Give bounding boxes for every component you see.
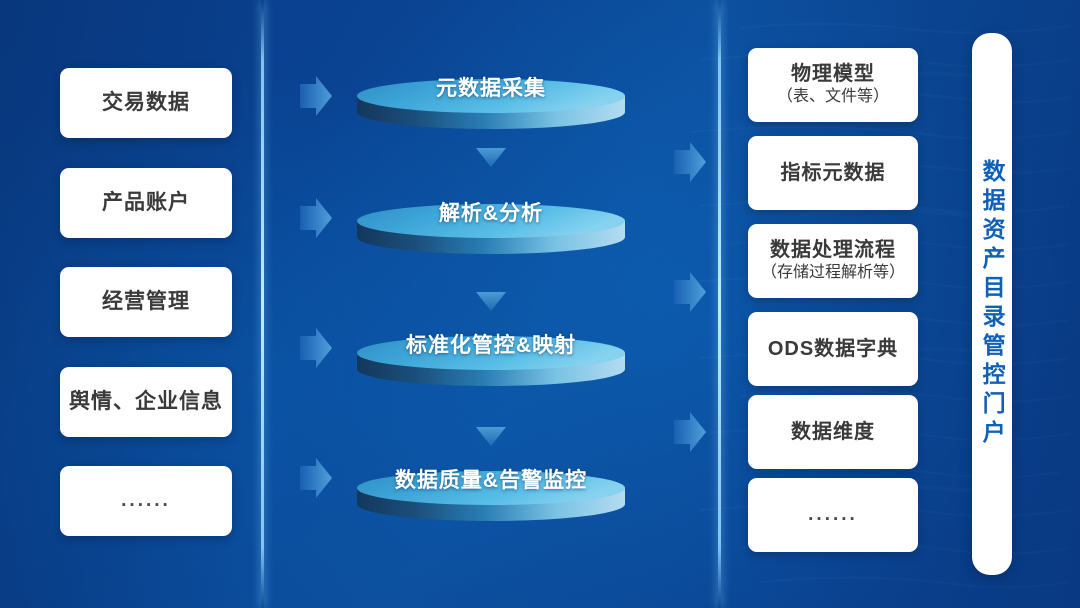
output-card-2[interactable]: 指标元数据	[748, 136, 918, 210]
output-card-title: 指标元数据	[781, 161, 886, 186]
arrow-down-icon	[476, 148, 506, 168]
arrow-right-icon	[298, 74, 334, 118]
output-card-3[interactable]: 数据处理流程 （存储过程解析等）	[748, 224, 918, 298]
output-card-title: ......	[808, 504, 858, 526]
arrow-right-icon	[298, 196, 334, 240]
output-card-title: ODS数据字典	[768, 337, 898, 362]
output-card-title: 物理模型	[791, 62, 875, 87]
arrow-right-icon	[672, 410, 708, 454]
output-card-subtitle: （表、文件等）	[777, 87, 889, 108]
pipeline-stage-2[interactable]: 解析&分析	[356, 203, 626, 265]
source-card-2[interactable]: 产品账户	[60, 168, 232, 238]
output-card-title: 数据维度	[791, 420, 875, 445]
output-card-subtitle: （存储过程解析等）	[761, 263, 905, 284]
output-card-1[interactable]: 物理模型 （表、文件等）	[748, 48, 918, 122]
pipeline-stage-label: 解析&分析	[356, 197, 626, 227]
diagram-canvas: 交易数据 产品账户 经营管理 舆情、企业信息 ......	[0, 0, 1080, 608]
output-card-4[interactable]: ODS数据字典	[748, 312, 918, 386]
source-card-label: 舆情、企业信息	[69, 389, 223, 415]
divider-rail-left	[261, 0, 264, 608]
portal-banner-label: 数据资产目录管控门户	[980, 159, 1004, 449]
source-card-label: 经营管理	[102, 289, 190, 315]
pipeline-stage-label: 标准化管控&映射	[356, 329, 626, 359]
source-card-5[interactable]: ......	[60, 466, 232, 536]
arrow-right-icon	[298, 456, 334, 500]
pipeline-stage-label: 元数据采集	[356, 72, 626, 102]
portal-banner[interactable]: 数据资产目录管控门户	[972, 33, 1012, 575]
pipeline-stage-3[interactable]: 标准化管控&映射	[356, 335, 626, 397]
arrow-right-icon	[298, 326, 334, 370]
source-card-1[interactable]: 交易数据	[60, 68, 232, 138]
output-card-6[interactable]: ......	[748, 478, 918, 552]
arrow-right-icon	[672, 140, 708, 184]
output-card-title: 数据处理流程	[770, 238, 896, 263]
source-card-3[interactable]: 经营管理	[60, 267, 232, 337]
pipeline-stage-4[interactable]: 数据质量&告警监控	[356, 470, 626, 532]
pipeline-stage-1[interactable]: 元数据采集	[356, 78, 626, 140]
source-card-label: ......	[121, 490, 171, 512]
output-card-5[interactable]: 数据维度	[748, 395, 918, 469]
divider-rail-right	[718, 0, 721, 608]
pipeline-stage-label: 数据质量&告警监控	[356, 464, 626, 494]
arrow-down-icon	[476, 427, 506, 447]
arrow-down-icon	[476, 292, 506, 312]
source-card-label: 交易数据	[102, 90, 190, 116]
source-card-label: 产品账户	[102, 190, 190, 216]
source-card-4[interactable]: 舆情、企业信息	[60, 367, 232, 437]
arrow-right-icon	[672, 270, 708, 314]
